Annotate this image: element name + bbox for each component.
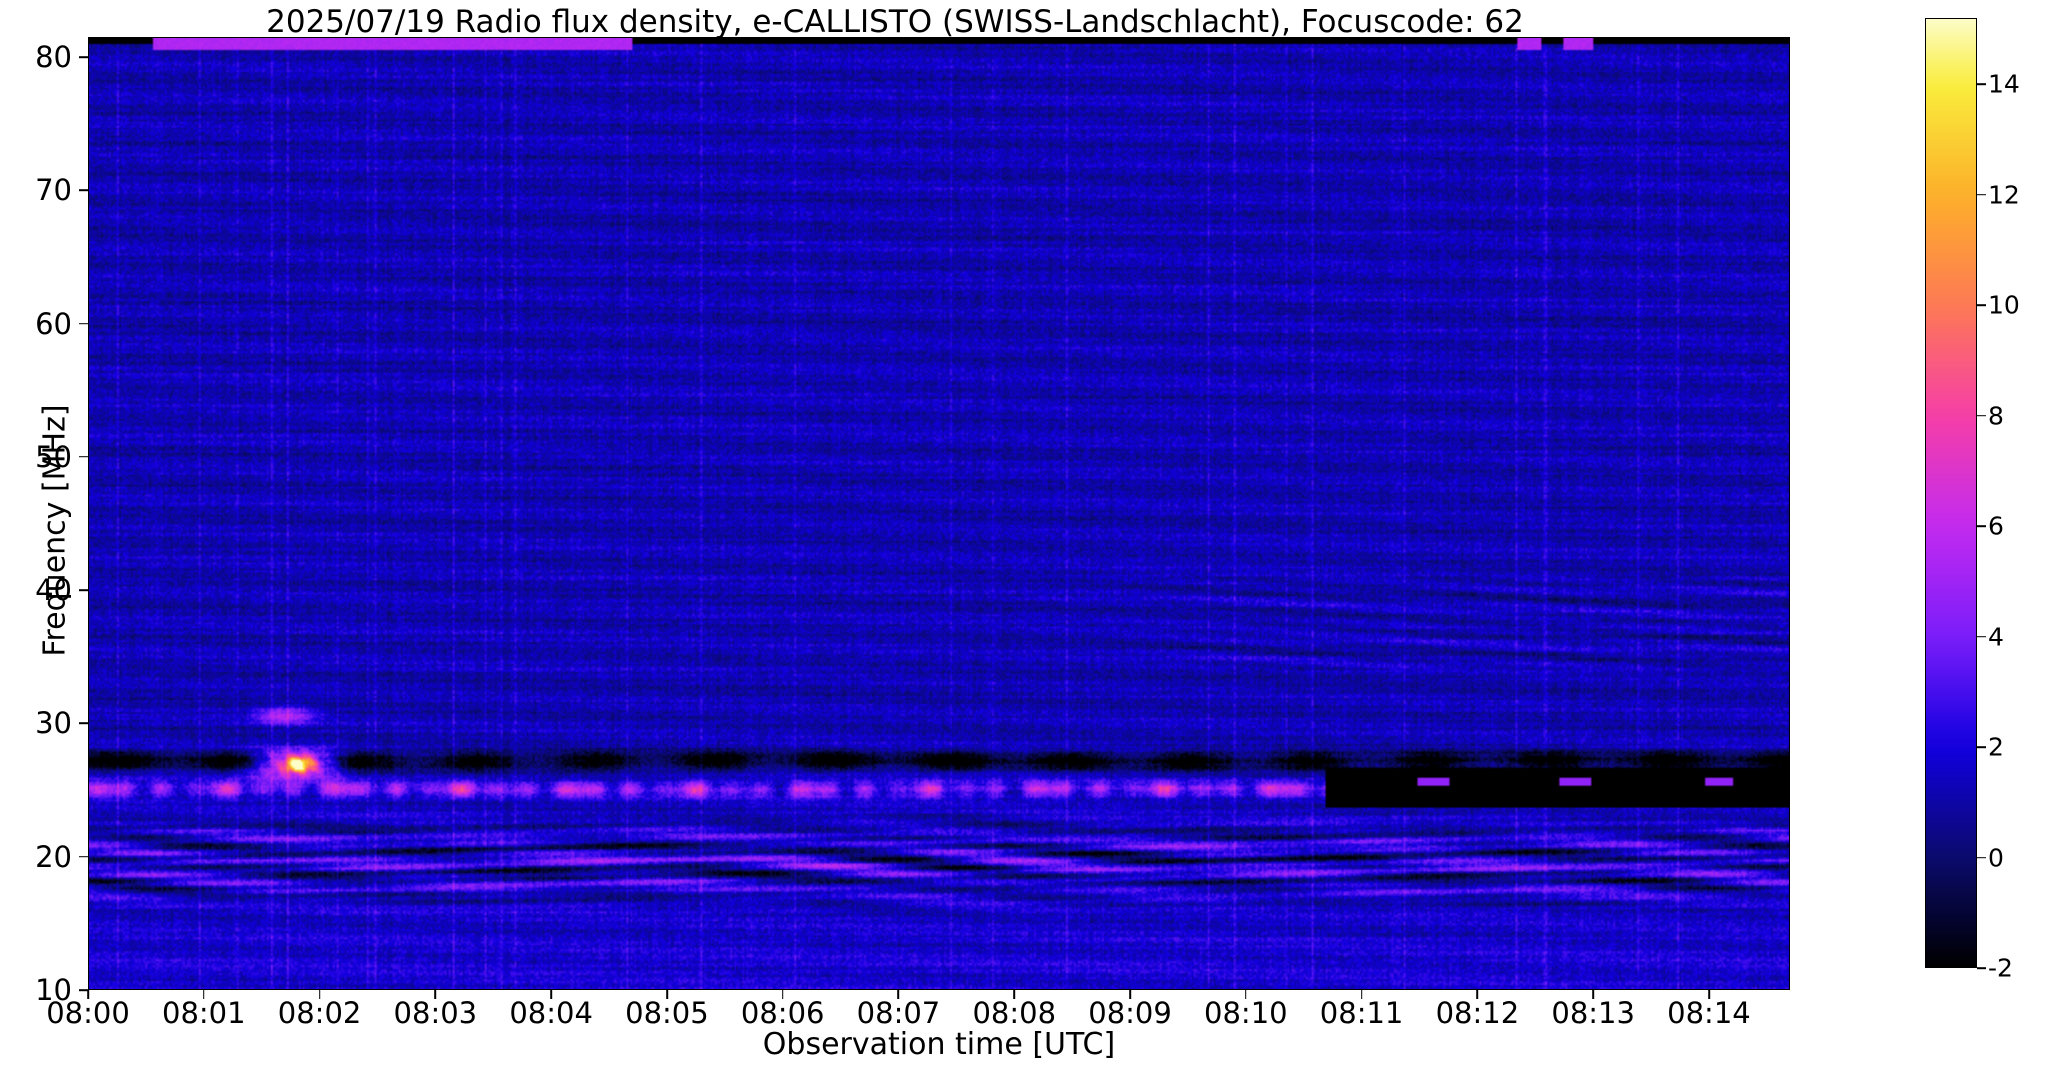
x-tick-label: 08:13 (1551, 996, 1635, 1030)
colorbar-tick-label: 0 (1988, 843, 2004, 872)
x-tick-label: 08:00 (46, 996, 130, 1030)
colorbar-tick-mark (1977, 304, 1986, 306)
spectrogram-heatmap (89, 38, 1789, 989)
x-tick-label: 08:07 (857, 996, 941, 1030)
y-tick-mark (79, 589, 88, 591)
colorbar (1925, 18, 1977, 968)
colorbar-tick-label: -2 (1988, 954, 2013, 983)
y-tick-mark (79, 856, 88, 858)
y-tick-label: 70 (35, 173, 72, 207)
spectrogram-plot-area[interactable] (88, 37, 1790, 990)
colorbar-tick-label: 4 (1988, 622, 2004, 651)
x-tick-label: 08:14 (1667, 996, 1751, 1030)
y-tick-mark (79, 456, 88, 458)
colorbar-tick-mark (1977, 857, 1986, 859)
colorbar-tick-mark (1977, 967, 1986, 969)
x-tick-label: 08:09 (1088, 996, 1172, 1030)
colorbar-tick-mark (1977, 746, 1986, 748)
x-axis-label: Observation time [UTC] (88, 1027, 1790, 1062)
colorbar-tick-mark (1977, 636, 1986, 638)
x-tick-label: 08:06 (741, 996, 825, 1030)
x-tick-label: 08:11 (1320, 996, 1404, 1030)
colorbar-tick-mark (1977, 194, 1986, 196)
x-tick-label: 08:08 (972, 996, 1056, 1030)
x-tick-label: 08:03 (394, 996, 478, 1030)
spectrogram-canvas (89, 38, 1789, 989)
x-tick-label: 08:04 (509, 996, 593, 1030)
colorbar-tick-label: 8 (1988, 401, 2004, 430)
y-tick-mark (79, 723, 88, 725)
y-tick-mark (79, 56, 88, 58)
colorbar-tick-label: 14 (1988, 70, 2020, 99)
colorbar-tick-label: 10 (1988, 291, 2020, 320)
x-tick-label: 08:01 (162, 996, 246, 1030)
spectrogram-figure: 2025/07/19 Radio flux density, e-CALLIST… (0, 0, 2047, 1067)
y-tick-mark (79, 323, 88, 325)
y-tick-label: 80 (35, 40, 72, 74)
figure-title: 2025/07/19 Radio flux density, e-CALLIST… (0, 4, 1790, 40)
colorbar-tick-label: 6 (1988, 512, 2004, 541)
x-tick-label: 08:12 (1436, 996, 1520, 1030)
y-tick-mark (79, 189, 88, 191)
x-tick-label: 08:05 (625, 996, 709, 1030)
y-axis-label: Frequency [MHz] (38, 321, 73, 741)
colorbar-tick-label: 12 (1988, 180, 2020, 209)
colorbar-tick-mark (1977, 83, 1986, 85)
colorbar-tick-mark (1977, 415, 1986, 417)
x-tick-label: 08:02 (278, 996, 362, 1030)
y-tick-label: 20 (35, 840, 72, 874)
colorbar-gradient (1926, 19, 1976, 967)
colorbar-tick-label: 2 (1988, 733, 2004, 762)
colorbar-tick-mark (1977, 525, 1986, 527)
x-tick-label: 08:10 (1204, 996, 1288, 1030)
